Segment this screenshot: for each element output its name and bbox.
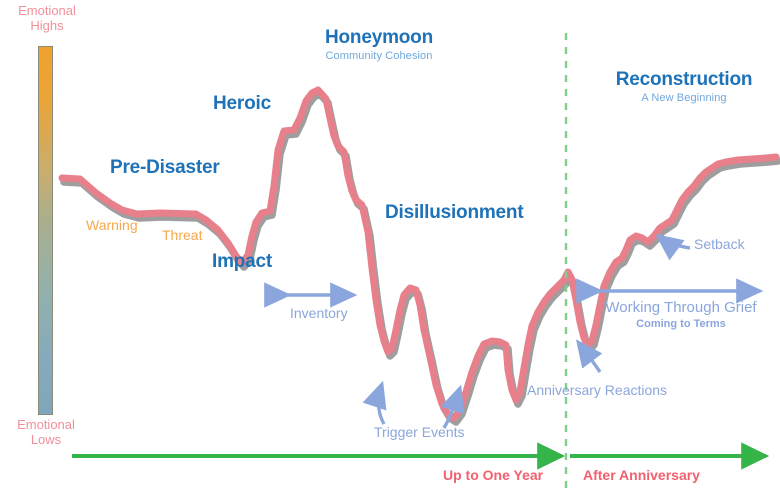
timeline-label-after-anniversary: After Anniversary <box>583 468 700 483</box>
phase-label-impact: Impact <box>212 252 272 272</box>
annotation-anniversary-reactions: Anniversary Reactions <box>527 383 667 398</box>
annotation-coming-to-terms: Coming to Terms <box>600 319 762 331</box>
phase-label-pre-disaster: Pre-Disaster <box>110 158 220 178</box>
annotation-inventory: Inventory <box>290 306 348 321</box>
phase-sublabel-reconstruction: A New Beginning <box>606 93 762 105</box>
phase-label-reconstruction-group: Reconstruction A New Beginning <box>606 70 762 104</box>
phase-label-disillusionment: Disillusionment <box>385 203 523 223</box>
event-label-warning: Warning <box>86 218 138 233</box>
emotional-response-curve <box>62 90 776 418</box>
phase-label-honeymoon-group: Honeymoon Community Cohesion <box>313 28 445 62</box>
annotation-setback: Setback <box>694 237 745 252</box>
phase-label-heroic: Heroic <box>213 94 271 114</box>
annotation-trigger-events: Trigger Events <box>374 425 465 440</box>
setback-arrow <box>658 236 690 248</box>
event-label-threat: Threat <box>162 228 202 243</box>
annotation-working-through-grief-group: Working Through Grief Coming to Terms <box>600 300 762 330</box>
emotional-curve-shadow <box>64 94 778 422</box>
trigger-event-arrow-left <box>379 384 385 424</box>
phase-sublabel-honeymoon: Community Cohesion <box>313 51 445 63</box>
phase-label-reconstruction: Reconstruction <box>606 70 762 90</box>
disaster-phases-diagram: Emotional Highs Emotional Lows <box>0 0 780 498</box>
timeline-label-up-to-one-year: Up to One Year <box>443 468 543 483</box>
annotation-working-through-grief: Working Through Grief <box>600 300 762 316</box>
phase-label-honeymoon: Honeymoon <box>313 28 445 48</box>
